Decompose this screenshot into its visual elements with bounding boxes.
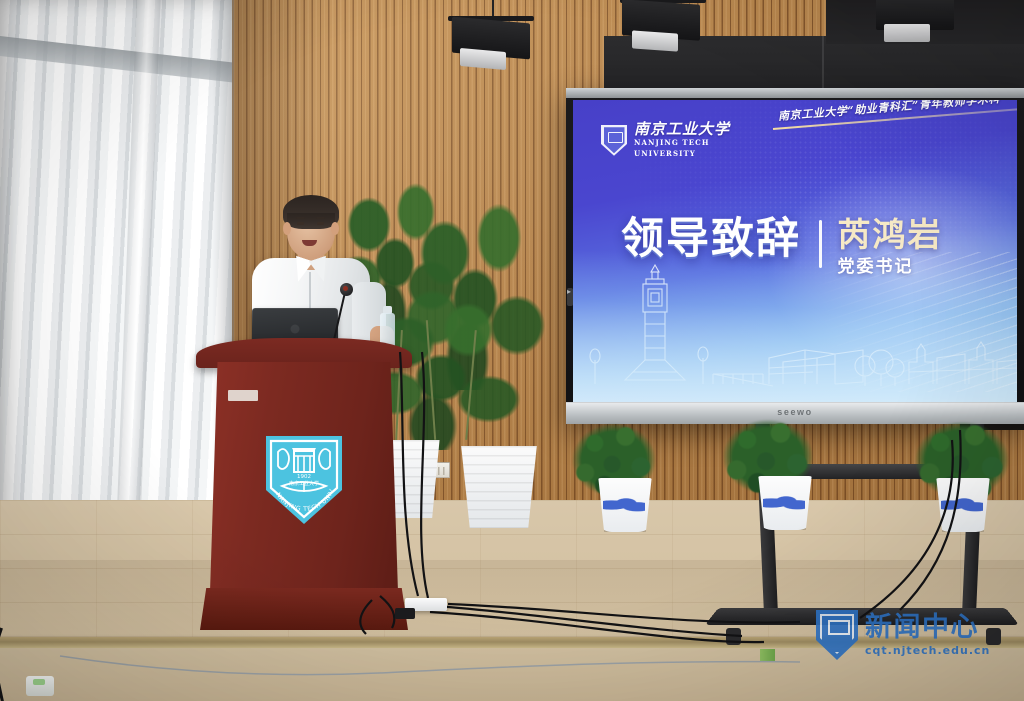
- podium-label-plate: [228, 390, 258, 401]
- speaker-ear-right: [331, 222, 339, 235]
- slide-logo-text: 南京工业大学 NANJING TECH UNIVERSITY: [634, 122, 730, 159]
- display-top-bezel: [566, 88, 1024, 98]
- slide-speaker-block: 芮鸿岩 党委书记: [838, 218, 943, 276]
- slide-speaker-name: 芮鸿岩: [838, 218, 943, 253]
- power-adapter: [395, 608, 415, 619]
- speaker-eye-left: [297, 222, 304, 225]
- speaker-ear-left: [283, 222, 291, 235]
- slide-logo-name-en-2: UNIVERSITY: [634, 150, 730, 159]
- speaker-brow-right: [316, 217, 325, 219]
- display-screen[interactable]: 南京工业大学“助业青科汇”青年教师学术科 南京工业大学 NANJING TECH…: [573, 100, 1017, 402]
- slide-title: 领导致辞: [621, 218, 801, 261]
- plant-pot-3: [934, 478, 992, 532]
- speaker-hair: [283, 195, 339, 229]
- curtain-band: [0, 36, 232, 82]
- slide-university-logo: 南京工业大学 NANJING TECH UNIVERSITY: [601, 122, 730, 159]
- title-divider: [819, 220, 822, 268]
- njtech-shield-watermark-icon: [816, 610, 858, 660]
- emblem-year: 1902: [297, 474, 311, 480]
- photo-scene: 南京工业大学“助业青科汇”青年教师学术科 南京工业大学 NANJING TECH…: [0, 0, 1024, 701]
- floor-object: [26, 676, 54, 696]
- plant-pot-1: [596, 478, 654, 532]
- speaker-brow-left: [296, 217, 305, 219]
- speaker-eye-right: [317, 222, 324, 225]
- plant-pot-2: [756, 476, 814, 530]
- podium-base: [200, 588, 408, 630]
- watermark-title: 新闻中心: [865, 614, 990, 641]
- watermark-url: cqt.njtech.edu.cn: [865, 644, 990, 657]
- bottle-label: [760, 649, 775, 662]
- njtech-emblem-icon: 1902 南京工业大学 NANJING TECH UNIVERSITY: [262, 432, 346, 528]
- news-center-watermark: 新闻中心 cqt.njtech.edu.cn: [816, 610, 990, 660]
- white-ribbed-planter-2: [456, 446, 542, 528]
- slide-logo-name-cn: 南京工业大学: [634, 122, 730, 137]
- cart-caster-left: [726, 628, 741, 645]
- slide-title-row: 领导致辞 芮鸿岩 党委书记: [621, 218, 943, 276]
- presentation-slide: 南京工业大学“助业青科汇”青年教师学术科 南京工业大学 NANJING TECH…: [573, 100, 1017, 402]
- slide-speaker-role: 党委书记: [838, 259, 943, 276]
- watermark-texts: 新闻中心 cqt.njtech.edu.cn: [865, 614, 990, 657]
- microphone-icon[interactable]: [340, 283, 353, 296]
- slide-logo-name-en-1: NANJING TECH: [634, 139, 730, 148]
- shield-icon: [601, 125, 627, 156]
- emblem-name-cn: 南京工业大学: [289, 480, 319, 487]
- interactive-display[interactable]: 南京工业大学“助业青科汇”青年教师学术科 南京工业大学 NANJING TECH…: [566, 88, 1024, 424]
